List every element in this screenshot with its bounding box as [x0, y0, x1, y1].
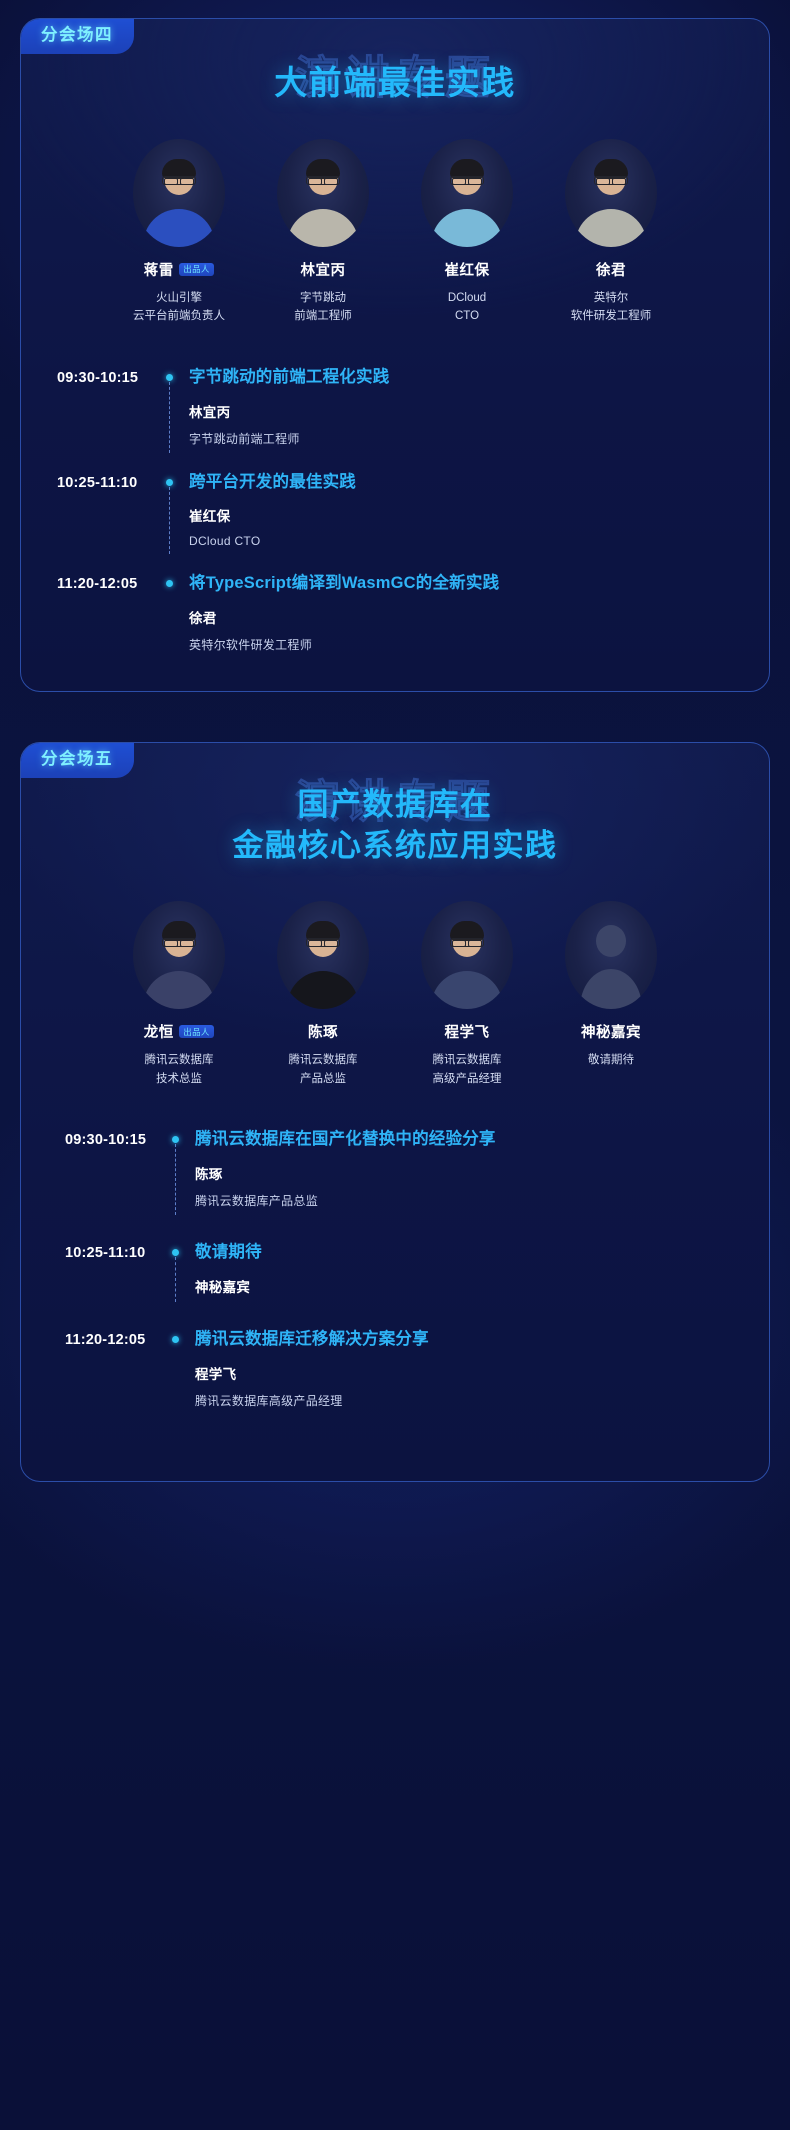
speaker-name-row: 崔红保	[407, 259, 527, 280]
speaker-badge: 出品人	[179, 263, 214, 276]
speaker-photo-linyibing	[277, 139, 369, 247]
speaker-photo-jianglei	[133, 139, 225, 247]
timeline-rail	[157, 574, 183, 653]
speaker-list-4: 蒋雷 出品人 火山引擎 云平台前端负责人 林宜丙 字节跳动 前端工程师	[21, 139, 769, 326]
speaker-name: 蒋雷	[144, 259, 174, 280]
speaker-list-5: 龙恒 出品人 腾讯云数据库 技术总监 陈琢 腾讯云数据库 产品总监	[21, 901, 769, 1088]
agenda-talk: 跨平台开发的最佳实践 崔红保 DCloud CTO	[183, 473, 735, 549]
agenda-talk: 腾讯云数据库迁移解决方案分享 程学飞 腾讯云数据库高级产品经理	[189, 1330, 735, 1409]
speaker-org: 腾讯云数据库 高级产品经理	[407, 1051, 527, 1088]
speaker-card[interactable]: 蒋雷 出品人 火山引擎 云平台前端负责人	[119, 139, 239, 326]
speaker-name: 程学飞	[445, 1021, 490, 1042]
speaker-name-row: 陈琢	[263, 1021, 383, 1042]
agenda-talk-title: 腾讯云数据库在国产化替换中的经验分享	[195, 1130, 735, 1150]
speaker-name: 神秘嘉宾	[581, 1021, 641, 1042]
speaker-name: 陈琢	[308, 1021, 338, 1042]
agenda-list-4: 09:30-10:15 字节跳动的前端工程化实践 林宜丙 字节跳动前端工程师 1…	[21, 368, 769, 653]
session-tag-label: 分会场五	[41, 751, 113, 768]
timeline-line	[175, 1257, 176, 1302]
agenda-list-5: 09:30-10:15 腾讯云数据库在国产化替换中的经验分享 陈琢 腾讯云数据库…	[21, 1130, 769, 1442]
agenda-row[interactable]: 11:20-12:05 将TypeScript编译到WasmGC的全新实践 徐君…	[57, 574, 735, 653]
timeline-dot-icon	[172, 1249, 179, 1256]
timeline-line	[169, 382, 170, 453]
timeline-rail	[157, 473, 183, 549]
session-card-5: 分会场五 演讲专题 国产数据库在 金融核心系统应用实践 龙恒 出品人	[20, 742, 770, 1481]
agenda-talk: 将TypeScript编译到WasmGC的全新实践 徐君 英特尔软件研发工程师	[183, 574, 735, 653]
speaker-org: 腾讯云数据库 技术总监	[119, 1051, 239, 1088]
agenda-talk-title: 腾讯云数据库迁移解决方案分享	[195, 1330, 735, 1350]
session-title-5-line2: 金融核心系统应用实践	[21, 826, 769, 867]
agenda-row[interactable]: 11:20-12:05 腾讯云数据库迁移解决方案分享 程学飞 腾讯云数据库高级产…	[65, 1330, 735, 1443]
agenda-talk: 敬请期待 神秘嘉宾	[189, 1243, 735, 1296]
session-tag-label: 分会场四	[41, 27, 113, 44]
timeline-rail	[163, 1130, 189, 1209]
speaker-org: DCloud CTO	[407, 289, 527, 326]
agenda-time: 11:20-12:05	[57, 574, 157, 592]
agenda-time: 09:30-10:15	[65, 1130, 163, 1148]
speaker-card[interactable]: 崔红保 DCloud CTO	[407, 139, 527, 326]
speaker-name-row: 林宜丙	[263, 259, 383, 280]
agenda-talk: 腾讯云数据库在国产化替换中的经验分享 陈琢 腾讯云数据库产品总监	[189, 1130, 735, 1209]
speaker-photo-chenzhuo	[277, 901, 369, 1009]
timeline-dot-icon	[172, 1136, 179, 1143]
agenda-time: 11:20-12:05	[65, 1330, 163, 1348]
session-title-5-line1: 国产数据库在	[21, 785, 769, 826]
speaker-name-row: 程学飞	[407, 1021, 527, 1042]
session-tag-5: 分会场五	[20, 742, 134, 778]
agenda-talk-speaker: 程学飞	[195, 1363, 735, 1383]
timeline-dot-icon	[166, 580, 173, 587]
speaker-name: 林宜丙	[301, 259, 346, 280]
agenda-talk-speaker: 徐君	[189, 607, 735, 627]
agenda-talk-title: 敬请期待	[195, 1243, 735, 1263]
timeline-line	[175, 1144, 176, 1215]
speaker-name: 龙恒	[144, 1021, 174, 1042]
agenda-page: 分会场四 演讲专题 大前端最佳实践 蒋雷 出品人 火山引擎 云平台前端负责人	[0, 0, 790, 1502]
agenda-row[interactable]: 09:30-10:15 字节跳动的前端工程化实践 林宜丙 字节跳动前端工程师	[57, 368, 735, 473]
agenda-talk-role: 腾讯云数据库高级产品经理	[195, 1392, 735, 1409]
agenda-talk-title: 跨平台开发的最佳实践	[189, 473, 735, 493]
speaker-card[interactable]: 龙恒 出品人 腾讯云数据库 技术总监	[119, 901, 239, 1088]
speaker-name-row: 徐君	[551, 259, 671, 280]
speaker-badge: 出品人	[179, 1025, 214, 1038]
speaker-card[interactable]: 程学飞 腾讯云数据库 高级产品经理	[407, 901, 527, 1088]
timeline-dot-icon	[166, 479, 173, 486]
speaker-card[interactable]: 陈琢 腾讯云数据库 产品总监	[263, 901, 383, 1088]
speaker-photo-cuihongbao	[421, 139, 513, 247]
timeline-line	[169, 487, 170, 555]
speaker-org: 英特尔 软件研发工程师	[551, 289, 671, 326]
agenda-row[interactable]: 10:25-11:10 敬请期待 神秘嘉宾	[65, 1243, 735, 1330]
timeline-rail	[163, 1330, 189, 1409]
agenda-talk: 字节跳动的前端工程化实践 林宜丙 字节跳动前端工程师	[183, 368, 735, 447]
agenda-time: 10:25-11:10	[65, 1243, 163, 1261]
timeline-rail	[163, 1243, 189, 1296]
speaker-photo-xujun	[565, 139, 657, 247]
speaker-card[interactable]: 徐君 英特尔 软件研发工程师	[551, 139, 671, 326]
session-card-4: 分会场四 演讲专题 大前端最佳实践 蒋雷 出品人 火山引擎 云平台前端负责人	[20, 18, 770, 692]
agenda-talk-role: 腾讯云数据库产品总监	[195, 1192, 735, 1209]
speaker-org: 火山引擎 云平台前端负责人	[119, 289, 239, 326]
speaker-org: 腾讯云数据库 产品总监	[263, 1051, 383, 1088]
agenda-time: 09:30-10:15	[57, 368, 157, 386]
speaker-placeholder-silhouette	[565, 901, 657, 1009]
agenda-talk-title: 将TypeScript编译到WasmGC的全新实践	[189, 574, 735, 594]
agenda-talk-title: 字节跳动的前端工程化实践	[189, 368, 735, 388]
agenda-talk-role: 英特尔软件研发工程师	[189, 636, 735, 653]
timeline-rail	[157, 368, 183, 447]
speaker-org: 敬请期待	[551, 1051, 671, 1070]
speaker-card[interactable]: 林宜丙 字节跳动 前端工程师	[263, 139, 383, 326]
agenda-talk-role: DCloud CTO	[189, 534, 735, 548]
speaker-card[interactable]: 神秘嘉宾 敬请期待	[551, 901, 671, 1088]
timeline-dot-icon	[166, 374, 173, 381]
agenda-talk-role: 字节跳动前端工程师	[189, 430, 735, 447]
speaker-name: 徐君	[596, 259, 626, 280]
agenda-talk-speaker: 陈琢	[195, 1163, 735, 1183]
agenda-talk-speaker: 林宜丙	[189, 401, 735, 421]
timeline-dot-icon	[172, 1336, 179, 1343]
speaker-org: 字节跳动 前端工程师	[263, 289, 383, 326]
agenda-row[interactable]: 09:30-10:15 腾讯云数据库在国产化替换中的经验分享 陈琢 腾讯云数据库…	[65, 1130, 735, 1243]
speaker-photo-longheng	[133, 901, 225, 1009]
agenda-row[interactable]: 10:25-11:10 跨平台开发的最佳实践 崔红保 DCloud CTO	[57, 473, 735, 575]
session-title-4: 大前端最佳实践	[21, 61, 769, 105]
agenda-talk-speaker: 神秘嘉宾	[195, 1276, 735, 1296]
agenda-time: 10:25-11:10	[57, 473, 157, 491]
session-tag-4: 分会场四	[20, 18, 134, 54]
speaker-name-row: 神秘嘉宾	[551, 1021, 671, 1042]
speaker-name: 崔红保	[445, 259, 490, 280]
speaker-photo-chengxuefei	[421, 901, 513, 1009]
agenda-talk-speaker: 崔红保	[189, 505, 735, 525]
speaker-name-row: 龙恒 出品人	[119, 1021, 239, 1042]
speaker-name-row: 蒋雷 出品人	[119, 259, 239, 280]
